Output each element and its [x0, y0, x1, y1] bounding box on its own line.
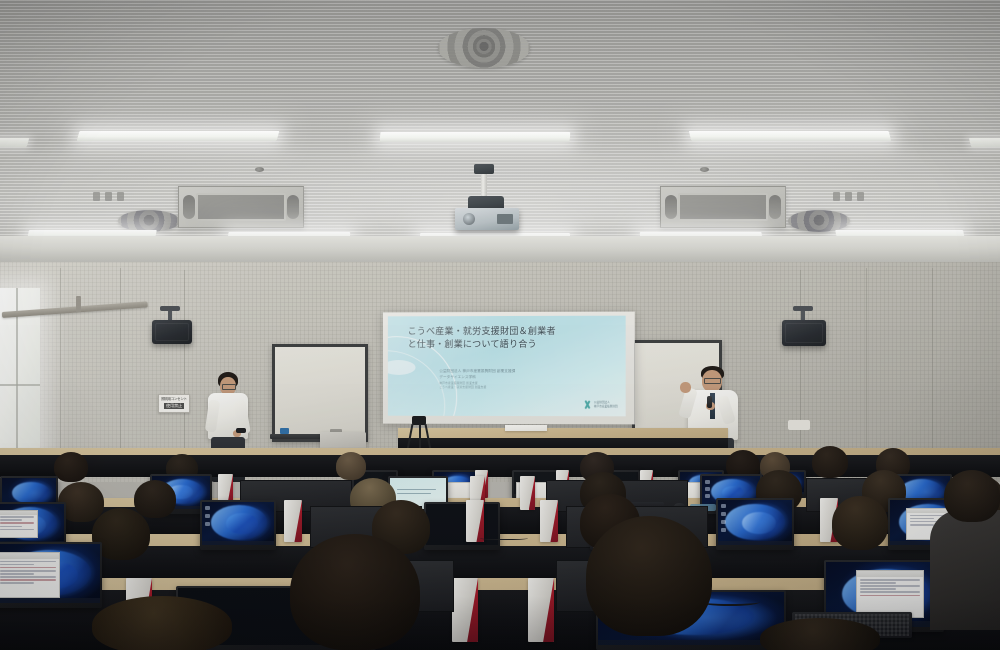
wall-speaker-left-plate [160, 306, 180, 311]
slide-decor-blob [388, 360, 416, 375]
wall-speaker-right [782, 320, 826, 346]
student-head-b7 [134, 480, 176, 518]
app-window-d3 [856, 570, 924, 618]
wall-seam-3 [184, 270, 185, 460]
student-head-foreground-3 [586, 516, 712, 636]
slide-decor-arc-1 [388, 336, 457, 416]
monitor-d0 [0, 542, 102, 608]
slide-logo-line2: 神戸市産業振興財団 [594, 405, 618, 408]
ac-cassette-right [660, 186, 786, 228]
pc-tower-c1 [284, 500, 302, 542]
slide-subtitle-line2: データサイエンス学科 [439, 374, 589, 380]
lecture-hall-photo: 照明用コンセント 使用禁止 こうべ産業・就労支援財団＆創業者 と仕事・創業につい… [0, 0, 1000, 650]
wall-seam-4 [800, 270, 801, 460]
ceiling-projector [455, 208, 519, 230]
slide-subtitle-line4: こうべ産業・就労支援財団 創業支援 [439, 385, 589, 390]
whiteboard-marker-blue [280, 428, 289, 434]
wall-seam-5 [866, 268, 867, 463]
ceiling-light-2 [380, 132, 571, 142]
pc-tower-d3 [528, 578, 554, 642]
ceiling-light-1 [77, 131, 280, 141]
app-window-d0 [0, 552, 60, 598]
slide-logo-line1: 公益財団法人 [594, 401, 610, 404]
monitor-c1 [200, 500, 276, 550]
student-torso-right [930, 510, 1000, 630]
slide-title: こうべ産業・就労支援財団＆創業者 と仕事・創業について語り合う [408, 326, 614, 353]
projection-screen: こうべ産業・就労支援財団＆創業者 と仕事・創業について語り合う 公益財団法人 神… [383, 312, 635, 425]
wall-seam-6 [932, 268, 933, 468]
podium-document [505, 425, 547, 431]
ceiling-speaker-left [118, 210, 180, 232]
handheld-microphone [707, 396, 712, 408]
student-head-foreground-1 [92, 596, 232, 650]
pc-tower-d2 [452, 578, 478, 642]
wall-sign-no-use: 照明用コンセント 使用禁止 [158, 394, 190, 413]
student-head-foreground-4 [760, 618, 880, 650]
pc-tower-c3 [540, 500, 558, 542]
presentation-slide: こうべ産業・就労支援財団＆創業者 と仕事・創業について語り合う 公益財団法人 神… [388, 316, 626, 417]
monitor-c2 [424, 502, 500, 550]
projector-mount-bracket [474, 164, 494, 174]
pc-tower-b3 [520, 476, 535, 510]
wall-sign-line2: 使用禁止 [164, 403, 184, 409]
projector-lens [463, 213, 475, 225]
ceiling-light-4 [969, 138, 1000, 147]
wall-seam-1 [60, 268, 61, 468]
student-head-foreground-2 [290, 534, 420, 650]
slide-subtitle-line3: 神戸市産業振興財団 創業支援 [439, 381, 589, 386]
student-head-c4 [832, 496, 888, 550]
slide-decor-arc-2 [388, 350, 445, 416]
student-head-a6 [54, 452, 88, 482]
student-head-right-edge [944, 470, 1000, 522]
wall-speaker-left [152, 320, 192, 344]
ceiling-light-0 [0, 138, 29, 147]
ceiling-speaker-right [788, 210, 850, 232]
ceiling-speaker-center [438, 28, 530, 68]
presenter-right-hand-raised [680, 382, 691, 393]
presenter-left-glasses [222, 384, 236, 390]
ceiling-light-3 [689, 131, 891, 141]
smoke-detector-right [700, 167, 709, 172]
slide-title-line2: と仕事・創業について語り合う [408, 339, 614, 352]
cable-c1 [480, 536, 528, 540]
projector-vent [497, 214, 513, 224]
slide-logo-text: 公益財団法人 神戸市産業振興財団 [594, 401, 618, 408]
slide-subtitle: 公益財団法人 神戸市産業振興財団 創業支援課 データサイエンス学科 神戸市産業振… [439, 368, 589, 390]
foundation-logo-icon [583, 400, 592, 409]
student-head-a4 [812, 446, 848, 478]
monitor-c3 [716, 498, 794, 550]
curtain-rail-mount [76, 296, 81, 312]
slide-title-line1: こうべ産業・就労支援財団＆創業者 [408, 326, 614, 340]
app-window-c0 [0, 510, 38, 538]
presenter-right-glasses [704, 378, 721, 384]
camera-tripod-leg-2 [419, 424, 421, 450]
slide-logo: 公益財団法人 神戸市産業振興財団 [583, 400, 618, 409]
wall-speaker-right-plate [793, 306, 813, 311]
ceiling-vent-slots-left [93, 192, 124, 201]
smoke-detector-left [255, 167, 264, 172]
wall-seam-2 [120, 268, 121, 463]
ac-cassette-left [178, 186, 304, 228]
wall-sign-line1: 照明用コンセント [161, 398, 187, 401]
slide-subtitle-line1: 公益財団法人 神戸市産業振興財団 創業支援課 [439, 368, 589, 374]
podium-equipment-box [788, 420, 810, 430]
ceiling-vent-slots-right [833, 192, 864, 201]
student-head-a1 [336, 452, 366, 480]
presentation-remote [236, 428, 246, 433]
